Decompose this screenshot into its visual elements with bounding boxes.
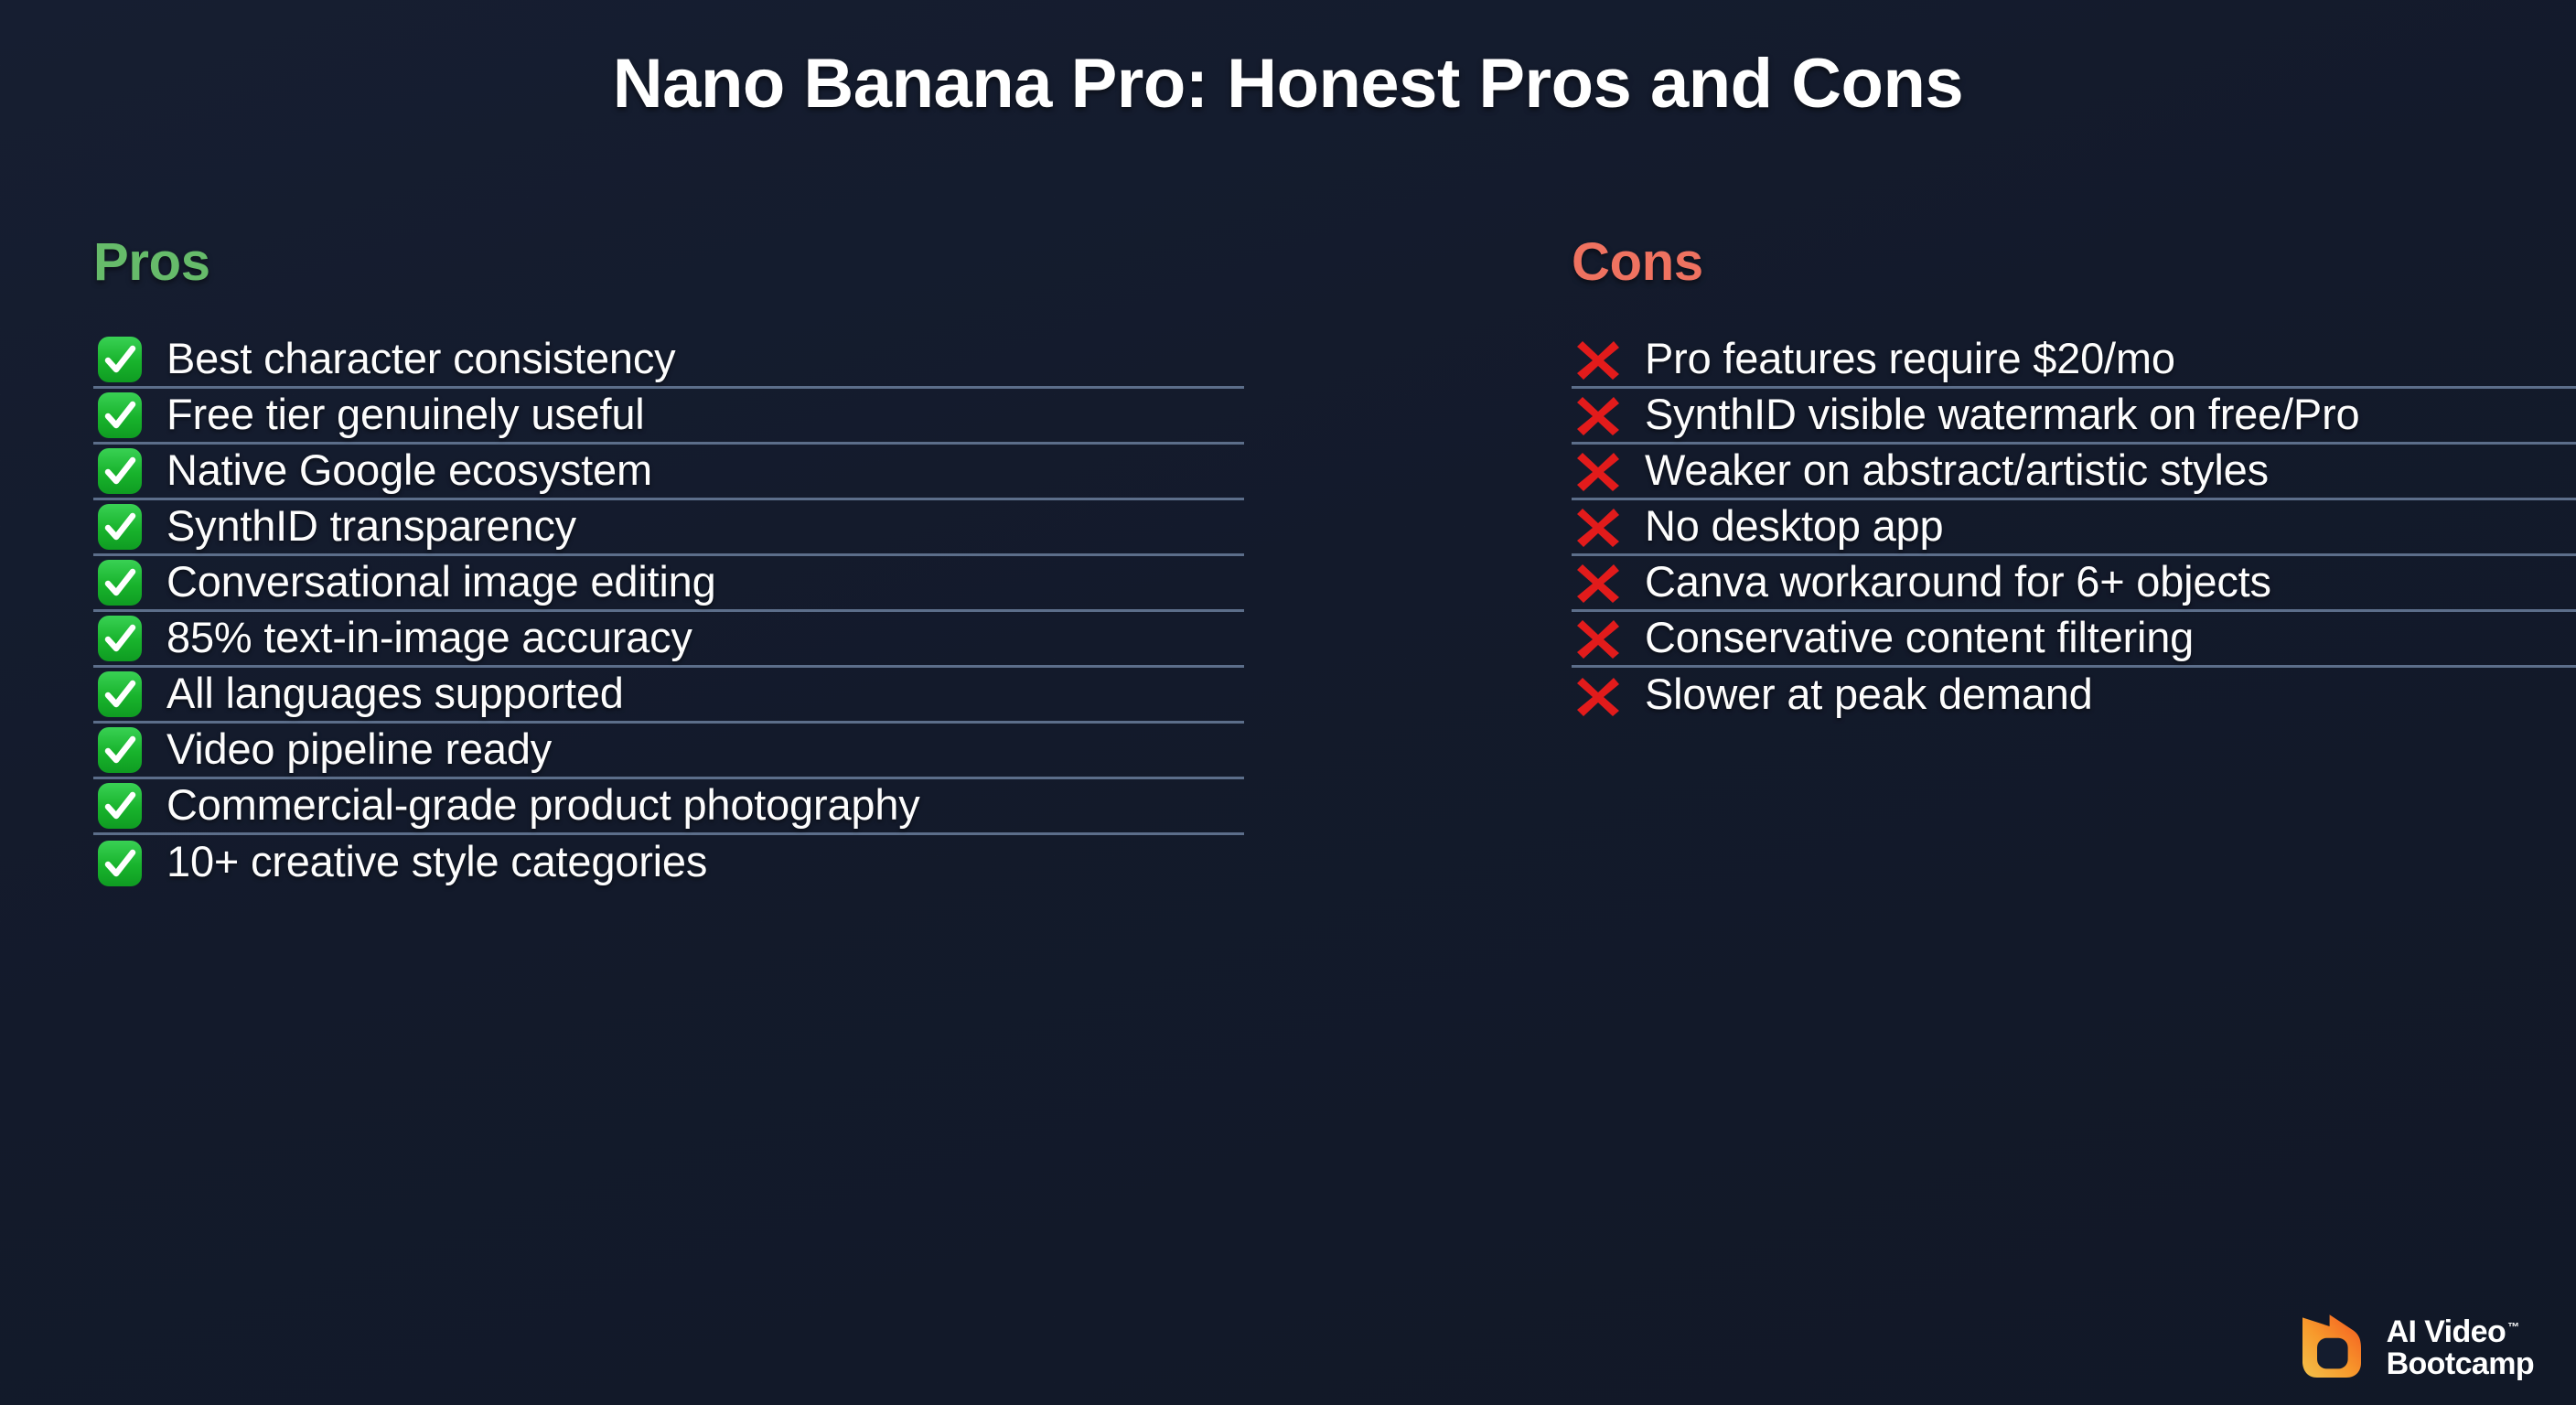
list-item-label: Pro features require $20/mo — [1645, 337, 2175, 380]
cons-list: Pro features require $20/moSynthID visib… — [1572, 333, 2576, 724]
cross-mark-icon — [1574, 503, 1622, 551]
cross-mark-icon — [1574, 447, 1622, 495]
list-item: Commercial-grade product photography — [93, 779, 1244, 835]
list-item-label: 10+ creative style categories — [166, 840, 707, 883]
cross-mark-icon — [1574, 615, 1622, 662]
cross-mark-icon — [1572, 670, 1625, 723]
check-mark-button-icon — [93, 500, 146, 553]
pros-cons-columns: Pros Best character consistencyFree tier… — [0, 236, 2576, 1315]
cons-column: Cons Pro features require $20/moSynthID … — [1244, 236, 2576, 1315]
list-item-label: Slower at peak demand — [1645, 672, 2093, 715]
list-item-label: Commercial-grade product photography — [166, 783, 920, 826]
check-mark-button-icon — [93, 556, 146, 609]
list-item-label: Free tier genuinely useful — [166, 392, 645, 435]
list-item-label: Conservative content filtering — [1645, 616, 2194, 659]
list-item: SynthID transparency — [93, 500, 1244, 556]
list-item: Pro features require $20/mo — [1572, 333, 2576, 389]
trademark-symbol: ™ — [2507, 1320, 2518, 1334]
list-item: No desktop app — [1572, 500, 2576, 556]
list-item: Video pipeline ready — [93, 724, 1244, 779]
list-item: Canva workaround for 6+ objects — [1572, 556, 2576, 612]
list-item-label: 85% text-in-image accuracy — [166, 616, 692, 659]
cross-mark-icon — [1572, 389, 1625, 442]
cons-heading: Cons — [1572, 236, 2576, 289]
list-item-label: Weaker on abstract/artistic styles — [1645, 448, 2269, 491]
list-item: Weaker on abstract/artistic styles — [1572, 445, 2576, 500]
page-title: Nano Banana Pro: Honest Pros and Cons — [0, 44, 2576, 123]
slide-root: Nano Banana Pro: Honest Pros and Cons Pr… — [0, 0, 2576, 1405]
check-mark-button-icon — [95, 839, 145, 888]
list-item-label: SynthID visible watermark on free/Pro — [1645, 392, 2359, 435]
cross-mark-icon — [1574, 391, 1622, 439]
list-item-label: Video pipeline ready — [166, 727, 552, 770]
cross-mark-icon — [1572, 556, 1625, 609]
list-item: Free tier genuinely useful — [93, 389, 1244, 445]
pros-list: Best character consistencyFree tier genu… — [93, 333, 1244, 891]
check-mark-button-icon — [93, 724, 146, 777]
list-item-label: Conversational image editing — [166, 560, 716, 603]
check-mark-button-icon — [93, 837, 146, 890]
list-item: 85% text-in-image accuracy — [93, 612, 1244, 668]
cross-mark-icon — [1572, 500, 1625, 553]
list-item-label: Canva workaround for 6+ objects — [1645, 560, 2271, 603]
pros-column: Pros Best character consistencyFree tier… — [0, 236, 1244, 1315]
check-mark-button-icon — [95, 614, 145, 663]
brand-logo: AI Video™ Bootcamp — [2295, 1312, 2534, 1385]
list-item: Best character consistency — [93, 333, 1244, 389]
list-item: Conversational image editing — [93, 556, 1244, 612]
check-mark-button-icon — [93, 612, 146, 665]
check-mark-button-icon — [95, 335, 145, 384]
cross-mark-icon — [1572, 612, 1625, 665]
check-mark-button-icon — [93, 445, 146, 498]
cross-mark-icon — [1572, 333, 1625, 386]
brand-logo-line1-label: AI Video — [2387, 1314, 2506, 1349]
check-mark-button-icon — [93, 333, 146, 386]
check-mark-button-icon — [95, 781, 145, 831]
list-item: Slower at peak demand — [1572, 668, 2576, 724]
pros-heading: Pros — [93, 236, 1244, 289]
list-item: All languages supported — [93, 668, 1244, 724]
check-mark-button-icon — [95, 725, 145, 775]
check-mark-button-icon — [95, 446, 145, 496]
check-mark-button-icon — [95, 558, 145, 607]
cross-mark-icon — [1572, 445, 1625, 498]
check-mark-button-icon — [95, 502, 145, 552]
brand-logo-line2: Bootcamp — [2387, 1348, 2534, 1380]
list-item: Conservative content filtering — [1572, 612, 2576, 668]
list-item-label: SynthID transparency — [166, 504, 576, 547]
ai-video-bootcamp-flame-icon — [2295, 1312, 2368, 1385]
cross-mark-icon — [1574, 336, 1622, 383]
brand-logo-line1: AI Video™ — [2387, 1316, 2534, 1348]
list-item-label: All languages supported — [166, 671, 624, 714]
check-mark-button-icon — [95, 670, 145, 719]
list-item: Native Google ecosystem — [93, 445, 1244, 500]
check-mark-button-icon — [95, 391, 145, 440]
check-mark-button-icon — [93, 668, 146, 721]
check-mark-button-icon — [93, 389, 146, 442]
list-item-label: No desktop app — [1645, 504, 1943, 547]
brand-logo-text: AI Video™ Bootcamp — [2387, 1316, 2534, 1379]
check-mark-button-icon — [93, 779, 146, 832]
list-item-label: Best character consistency — [166, 337, 675, 380]
cross-mark-icon — [1574, 559, 1622, 606]
list-item-label: Native Google ecosystem — [166, 448, 652, 491]
cross-mark-icon — [1574, 672, 1622, 720]
list-item: 10+ creative style categories — [93, 835, 1244, 891]
list-item: SynthID visible watermark on free/Pro — [1572, 389, 2576, 445]
